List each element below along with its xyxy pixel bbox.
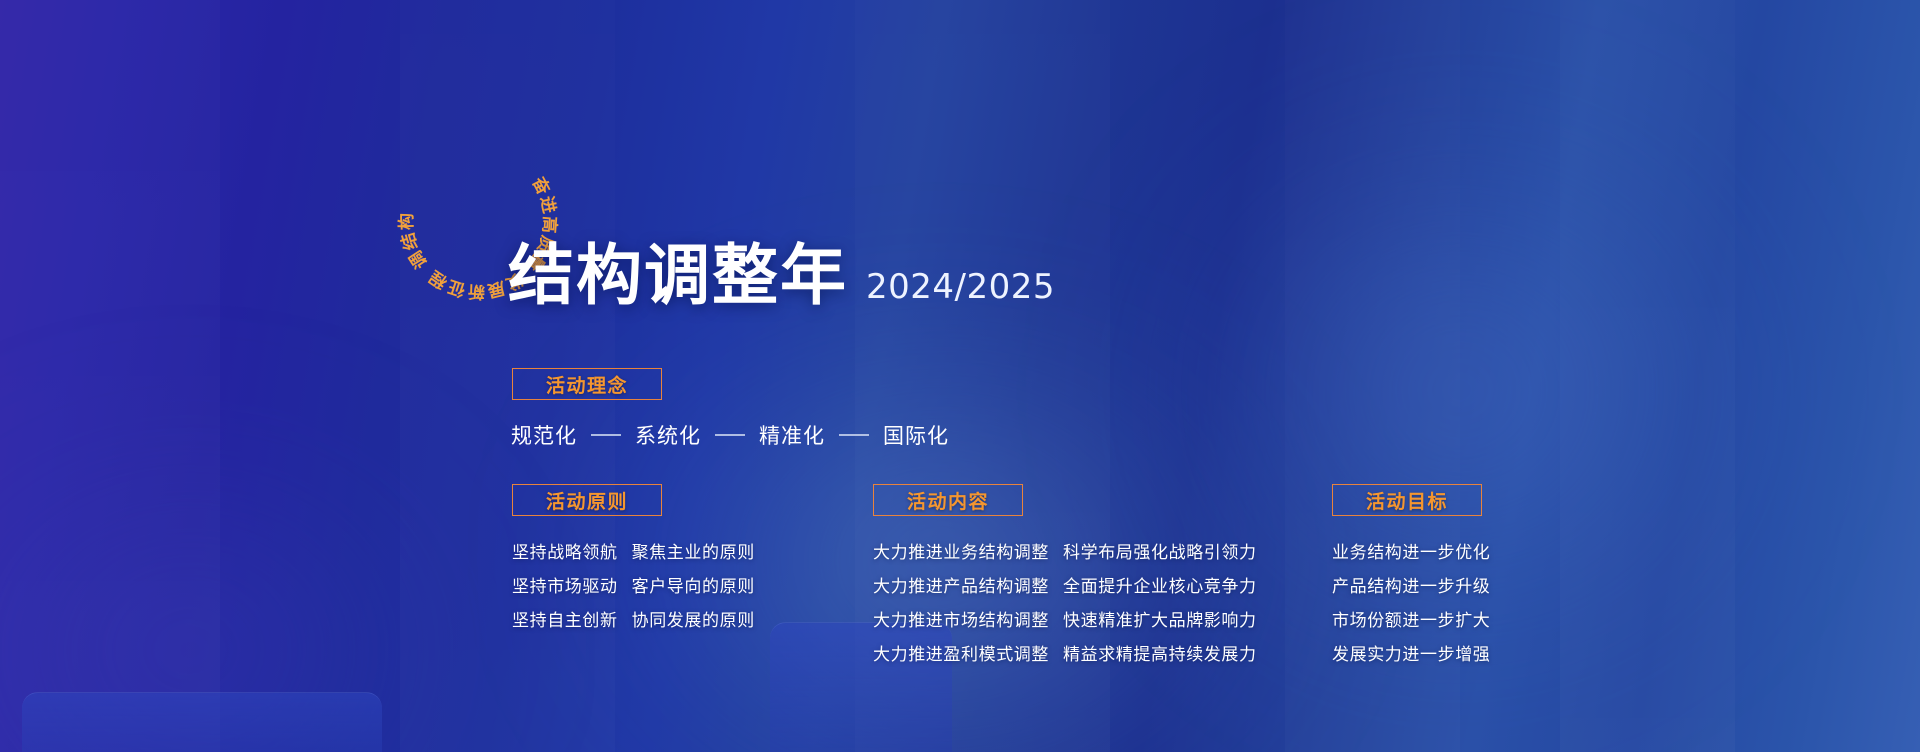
badge-activity-goals: 活动目标 (1332, 484, 1482, 516)
list-item: 大力推进产品结构调整 全面提升企业核心竞争力 (873, 572, 1257, 597)
column-activity-principles: 活动原则 坚持战略领航 聚焦主业的原则 坚持市场驱动 客户导向的原则 坚持自主创… (512, 484, 755, 631)
promo-banner: 奋进高质量 发展新征程 调结构 转型增动能 结构调整年 2024/2025 活动… (0, 0, 1920, 752)
line-segment: 市场份额进一步扩大 (1332, 606, 1490, 631)
column-lines: 业务结构进一步优化 产品结构进一步升级 市场份额进一步扩大 发展实力进一步增强 (1332, 538, 1490, 665)
line-segment: 大力推进业务结构调整 (873, 538, 1049, 563)
line-segment: 产品结构进一步升级 (1332, 572, 1490, 597)
line-segment: 大力推进市场结构调整 (873, 606, 1049, 631)
title-block: 结构调整年 2024/2025 (508, 243, 1055, 309)
line-segment: 协同发展的原则 (632, 606, 755, 631)
line-segment: 发展实力进一步增强 (1332, 640, 1490, 665)
line-segment: 聚焦主业的原则 (632, 538, 755, 563)
list-item: 坚持自主创新 协同发展的原则 (512, 606, 755, 631)
list-item: 市场份额进一步扩大 (1332, 606, 1490, 631)
list-item: 大力推进业务结构调整 科学布局强化战略引领力 (873, 538, 1257, 563)
line-segment: 快速精准扩大品牌影响力 (1063, 606, 1257, 631)
list-item: 发展实力进一步增强 (1332, 640, 1490, 665)
column-lines: 坚持战略领航 聚焦主业的原则 坚持市场驱动 客户导向的原则 坚持自主创新 协同发… (512, 538, 755, 631)
badge-activity-content: 活动内容 (873, 484, 1023, 516)
line-segment: 坚持市场驱动 (512, 572, 618, 597)
line-segment: 坚持战略领航 (512, 538, 618, 563)
page-title: 结构调整年 (508, 243, 848, 309)
list-item: 坚持市场驱动 客户导向的原则 (512, 572, 755, 597)
line-segment: 全面提升企业核心竞争力 (1063, 572, 1257, 597)
line-segment: 业务结构进一步优化 (1332, 538, 1490, 563)
list-item: 大力推进盈利模式调整 精益求精提高持续发展力 (873, 640, 1257, 665)
title-year: 2024/2025 (866, 270, 1055, 309)
line-segment: 坚持自主创新 (512, 606, 618, 631)
column-activity-goals: 活动目标 业务结构进一步优化 产品结构进一步升级 市场份额进一步扩大 发展实力进… (1332, 484, 1490, 665)
concept-item: 系统化 (635, 420, 701, 450)
list-item: 坚持战略领航 聚焦主业的原则 (512, 538, 755, 563)
list-item: 大力推进市场结构调整 快速精准扩大品牌影响力 (873, 606, 1257, 631)
concept-item: 规范化 (511, 420, 577, 450)
line-segment: 客户导向的原则 (632, 572, 755, 597)
column-lines: 大力推进业务结构调整 科学布局强化战略引领力 大力推进产品结构调整 全面提升企业… (873, 538, 1257, 665)
concept-item: 精准化 (759, 420, 825, 450)
concept-items: 规范化 系统化 精准化 国际化 (511, 420, 949, 450)
badge-activity-concept: 活动理念 (512, 368, 662, 400)
line-segment: 精益求精提高持续发展力 (1063, 640, 1257, 665)
concept-item: 国际化 (883, 420, 949, 450)
list-item: 产品结构进一步升级 (1332, 572, 1490, 597)
line-segment: 科学布局强化战略引领力 (1063, 538, 1257, 563)
divider-dash-icon (839, 434, 869, 436)
divider-dash-icon (715, 434, 745, 436)
column-activity-content: 活动内容 大力推进业务结构调整 科学布局强化战略引领力 大力推进产品结构调整 全… (873, 484, 1257, 665)
line-segment: 大力推进盈利模式调整 (873, 640, 1049, 665)
list-item: 业务结构进一步优化 (1332, 538, 1490, 563)
badge-activity-principles: 活动原则 (512, 484, 662, 516)
line-segment: 大力推进产品结构调整 (873, 572, 1049, 597)
divider-dash-icon (591, 434, 621, 436)
